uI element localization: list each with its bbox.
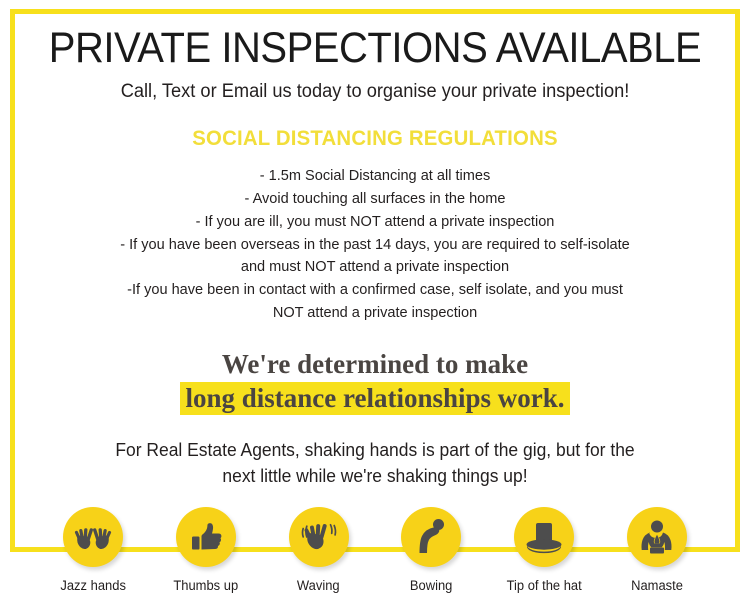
list-item: - If you are ill, you must NOT attend a … xyxy=(26,211,724,234)
list-item: - Avoid touching all surfaces in the hom… xyxy=(26,188,724,211)
list-item: - If you have been overseas in the past … xyxy=(26,234,724,257)
jazz-hands-icon xyxy=(63,507,123,567)
namaste-icon xyxy=(627,507,687,567)
bowing-person-icon xyxy=(401,507,461,567)
greeting-label-waving: Waving xyxy=(297,578,340,593)
thumbs-up-icon xyxy=(176,507,236,567)
greeting-label-bowing: Bowing xyxy=(410,578,453,593)
slogan-line-2: long distance relationships work. xyxy=(15,381,735,415)
greeting-item-thumbs-up: Thumbs up xyxy=(150,507,263,593)
greeting-item-jazz-hands: Jazz hands xyxy=(37,507,150,593)
greeting-item-namaste: Namaste xyxy=(600,507,713,593)
slogan: We're determined to make long distance r… xyxy=(15,347,735,415)
slogan-highlight: long distance relationships work. xyxy=(180,382,569,415)
greeting-label-tip-of-the-hat: Tip of the hat xyxy=(506,578,581,593)
slogan-line-1: We're determined to make xyxy=(15,347,735,381)
greeting-icons-row: Jazz hands Thumbs up xyxy=(37,507,713,593)
list-item: -If you have been in contact with a conf… xyxy=(26,279,724,302)
page-title: PRIVATE INSPECTIONS AVAILABLE xyxy=(40,26,710,71)
regulations-list: - 1.5m Social Distancing at all times - … xyxy=(15,165,735,325)
poster: PRIVATE INSPECTIONS AVAILABLE Call, Text… xyxy=(0,0,750,563)
closing-line-1: For Real Estate Agents, shaking hands is… xyxy=(115,440,634,460)
poster-content: PRIVATE INSPECTIONS AVAILABLE Call, Text… xyxy=(15,14,735,547)
greeting-label-namaste: Namaste xyxy=(631,578,683,593)
greeting-item-tip-of-the-hat: Tip of the hat xyxy=(488,507,601,593)
closing-line-2: next little while we're shaking things u… xyxy=(222,466,527,486)
greeting-label-jazz-hands: Jazz hands xyxy=(61,578,127,593)
greeting-item-waving: Waving xyxy=(262,507,375,593)
greeting-label-thumbs-up: Thumbs up xyxy=(174,578,239,593)
list-item: and must NOT attend a private inspection xyxy=(26,256,724,279)
subheadline: Call, Text or Email us today to organise… xyxy=(29,81,720,103)
section-title-social-distancing: SOCIAL DISTANCING REGULATIONS xyxy=(26,127,724,151)
list-item: - 1.5m Social Distancing at all times xyxy=(26,165,724,188)
top-hat-icon xyxy=(514,507,574,567)
list-item: NOT attend a private inspection xyxy=(26,302,724,325)
waving-hand-icon xyxy=(289,507,349,567)
greeting-item-bowing: Bowing xyxy=(375,507,488,593)
closing-paragraph: For Real Estate Agents, shaking hands is… xyxy=(26,438,724,489)
